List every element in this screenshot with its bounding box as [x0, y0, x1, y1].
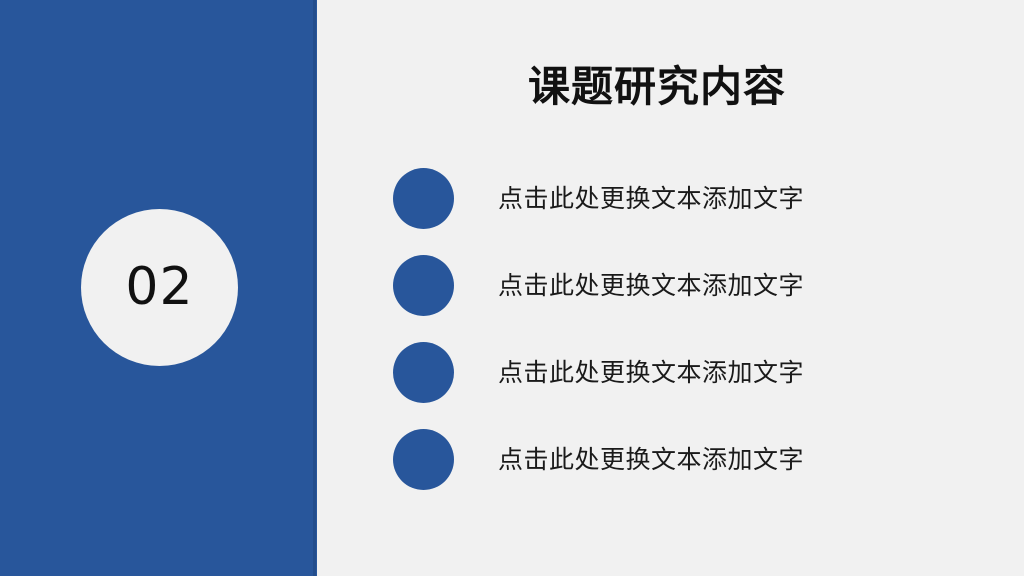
- list-item[interactable]: 点击此处更换文本添加文字: [317, 429, 1024, 516]
- list-item[interactable]: 点击此处更换文本添加文字: [317, 342, 1024, 429]
- left-blue-panel: 02: [0, 0, 317, 576]
- section-number-label: 02: [125, 261, 193, 313]
- bullet-dot-icon: [393, 342, 454, 403]
- list-item-label: 点击此处更换文本添加文字: [498, 183, 804, 216]
- list-item[interactable]: 点击此处更换文本添加文字: [317, 255, 1024, 342]
- bullet-list: 点击此处更换文本添加文字 点击此处更换文本添加文字 点击此处更换文本添加文字 点…: [317, 168, 1024, 516]
- bullet-dot-icon: [393, 429, 454, 490]
- list-item-label: 点击此处更换文本添加文字: [498, 357, 804, 390]
- list-item[interactable]: 点击此处更换文本添加文字: [317, 168, 1024, 255]
- panel-edge-stripe: [313, 0, 316, 576]
- bullet-dot-icon: [393, 168, 454, 229]
- bullet-dot-icon: [393, 255, 454, 316]
- page-title: 课题研究内容: [417, 62, 897, 112]
- list-item-label: 点击此处更换文本添加文字: [498, 444, 804, 477]
- presentation-slide: 02 课题研究内容 点击此处更换文本添加文字 点击此处更换文本添加文字 点击此处…: [0, 0, 1024, 576]
- section-number-badge: 02: [81, 209, 238, 366]
- content-area: 课题研究内容 点击此处更换文本添加文字 点击此处更换文本添加文字 点击此处更换文…: [317, 0, 1024, 576]
- list-item-label: 点击此处更换文本添加文字: [498, 270, 804, 303]
